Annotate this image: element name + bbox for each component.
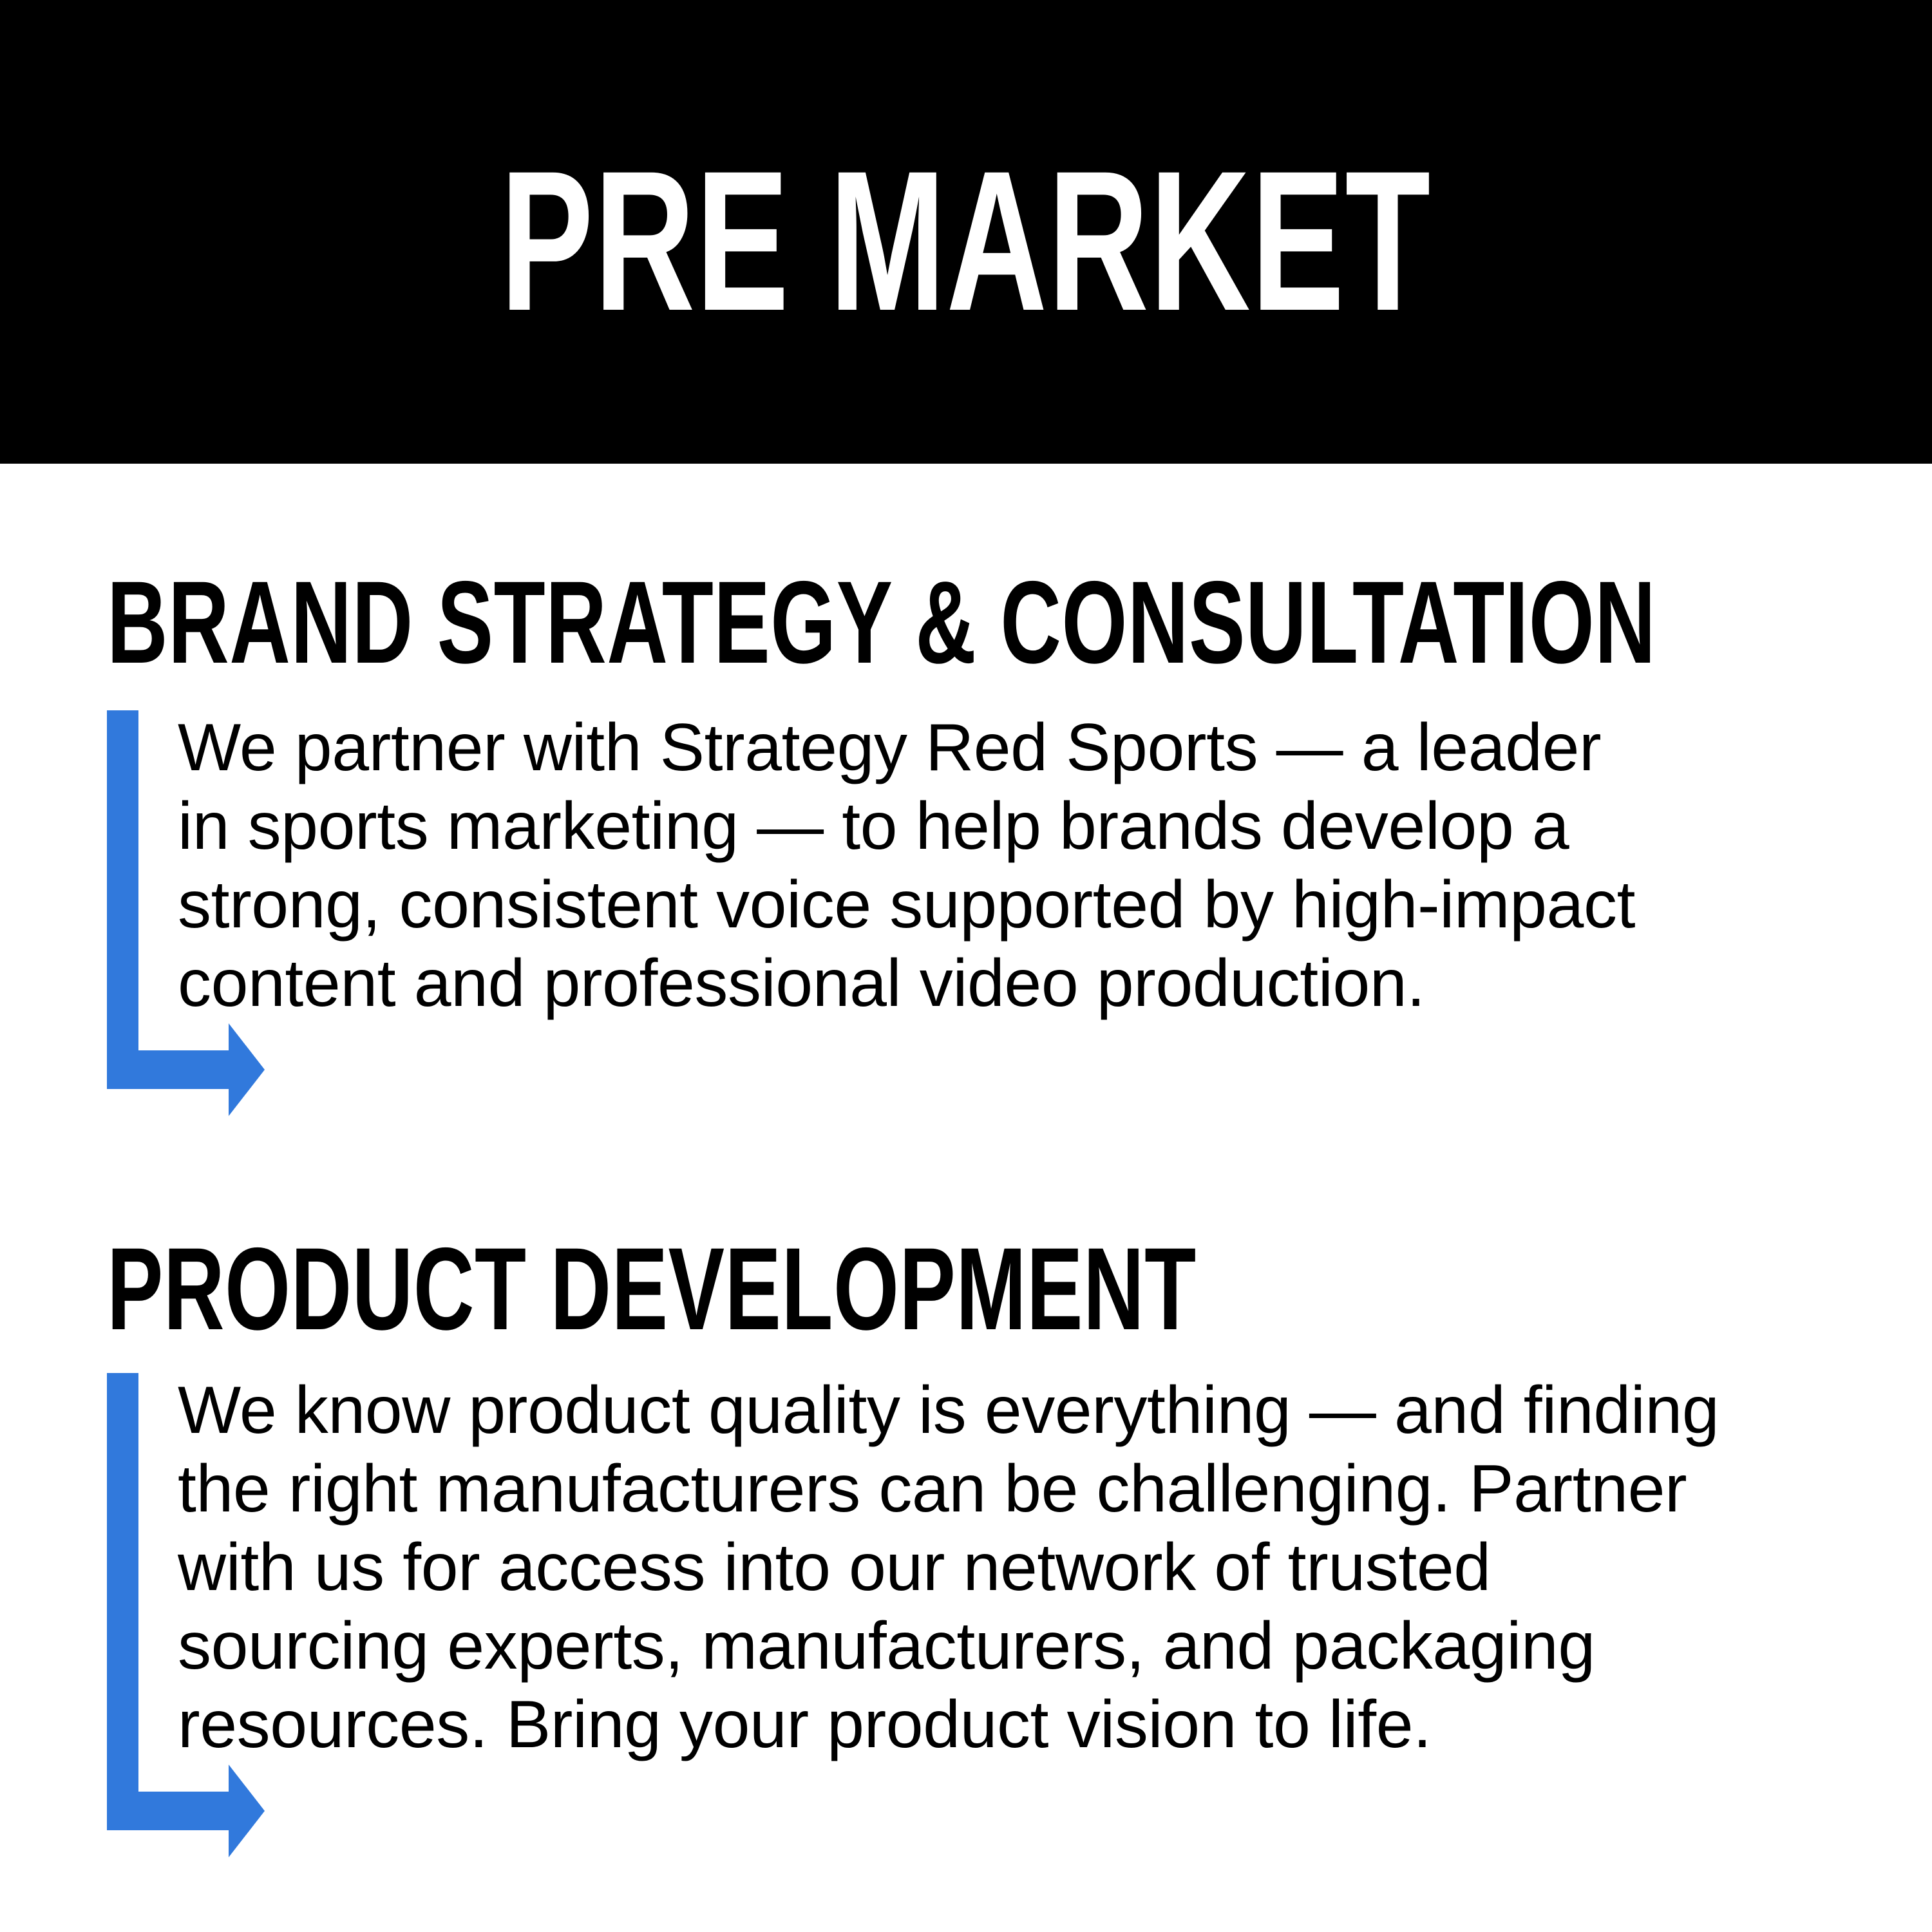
section-body-text: We partner with Strategy Red Sports — a … bbox=[178, 708, 1659, 1023]
section-heading: PRODUCT DEVELOPMENT bbox=[107, 1230, 1197, 1347]
page-title: PRE MARKET bbox=[500, 159, 1432, 323]
header-band: PRE MARKET bbox=[0, 0, 1932, 464]
slide-root: PRE MARKET BRAND STRATEGY & CONSULTATION… bbox=[0, 0, 1932, 1932]
section-heading: BRAND STRATEGY & CONSULTATION bbox=[107, 563, 1656, 681]
section-body-text: We know product quality is everything — … bbox=[178, 1371, 1723, 1764]
